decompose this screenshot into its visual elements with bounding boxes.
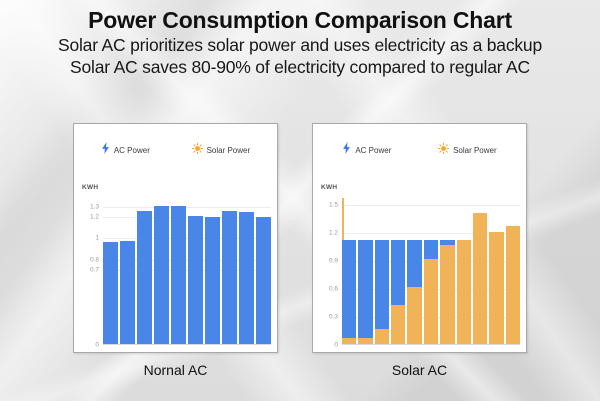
legend-label-ac-power: AC Power xyxy=(114,146,150,155)
bar-column[interactable] xyxy=(171,198,186,344)
bar-column[interactable] xyxy=(375,198,389,344)
sun-icon xyxy=(192,141,203,159)
y-tick-label: 0.8 xyxy=(90,256,99,263)
bar-column[interactable] xyxy=(188,198,203,344)
lightning-bolt-icon xyxy=(101,141,110,159)
bars-solar-ac xyxy=(342,198,520,344)
y-tick-label: 1.3 xyxy=(90,203,99,210)
y-axis-labels-left: 1.31.210.80.70 xyxy=(82,198,102,345)
bar-column[interactable] xyxy=(424,198,438,344)
bar-column[interactable] xyxy=(137,198,152,344)
subtitle-line-2: Solar AC saves 80-90% of electricity com… xyxy=(0,56,600,78)
bar-segment-ac-power xyxy=(205,217,220,344)
y-axis-unit-left: KWH xyxy=(82,184,98,191)
chart-caption-normal-ac: Nornal AC xyxy=(144,362,208,378)
bar-segment-solar-power xyxy=(489,232,503,344)
lightning-bolt-icon xyxy=(342,141,351,159)
bar-segment-ac-power xyxy=(120,241,135,344)
y-tick-label: 1.5 xyxy=(329,202,338,209)
plot-area-solar-ac: 1.51.20.90.60.30 xyxy=(321,198,520,345)
plot-area-normal-ac: 1.31.210.80.70 xyxy=(82,198,271,345)
legend-normal-ac: AC Power xyxy=(74,141,277,159)
bar-segment-ac-power xyxy=(171,206,186,344)
bar-column[interactable] xyxy=(506,198,520,344)
bar-segment-solar-power xyxy=(424,259,438,344)
bar-segment-ac-power xyxy=(154,206,169,344)
bar-column[interactable] xyxy=(342,198,356,344)
page-title: Power Consumption Comparison Chart xyxy=(0,6,600,34)
legend-item-solar-power: Solar Power xyxy=(192,141,251,159)
bar-segment-ac-power xyxy=(137,211,152,344)
bar-segment-ac-power xyxy=(391,240,405,306)
legend-item-ac-power: AC Power xyxy=(342,141,391,159)
chart-block-normal-ac: AC Power xyxy=(73,123,278,378)
legend-item-ac-power: AC Power xyxy=(101,141,150,159)
bar-column[interactable] xyxy=(489,198,503,344)
bar-column[interactable] xyxy=(407,198,421,344)
bar-segment-ac-power xyxy=(342,240,356,339)
legend-item-solar-power: Solar Power xyxy=(438,141,497,159)
y-axis-labels-right: 1.51.20.90.60.30 xyxy=(321,198,341,345)
bar-segment-solar-power xyxy=(473,213,487,344)
bar-column[interactable] xyxy=(205,198,220,344)
bar-segment-ac-power xyxy=(188,216,203,344)
bar-segment-ac-power xyxy=(424,240,438,259)
bar-segment-solar-power xyxy=(407,287,421,344)
y-tick-label: 1.2 xyxy=(90,214,99,221)
bar-column[interactable] xyxy=(391,198,405,344)
y-tick-label: 0 xyxy=(334,342,338,349)
bar-segment-solar-power xyxy=(506,226,520,344)
y-tick-label: 1 xyxy=(95,235,99,242)
bar-segment-ac-power xyxy=(222,211,237,344)
bar-segment-solar-power xyxy=(391,305,405,344)
y-axis-unit-right: KWH xyxy=(321,184,337,191)
charts-row: AC Power xyxy=(0,123,600,378)
chart-card-normal-ac: AC Power xyxy=(73,123,278,353)
y-tick-label: 0.9 xyxy=(329,258,338,265)
bar-column[interactable] xyxy=(358,198,372,344)
bar-segment-ac-power xyxy=(103,242,118,344)
legend-solar-ac: AC Power xyxy=(313,141,526,159)
legend-label-ac-power: AC Power xyxy=(355,146,391,155)
bar-column[interactable] xyxy=(239,198,254,344)
sun-icon xyxy=(438,141,449,159)
bar-segment-ac-power xyxy=(256,217,271,344)
y-tick-label: 0.6 xyxy=(329,286,338,293)
bars-normal-ac xyxy=(103,198,271,344)
bar-segment-ac-power xyxy=(239,212,254,344)
bar-column[interactable] xyxy=(473,198,487,344)
bar-segment-solar-power xyxy=(457,240,471,344)
slide-root: Power Consumption Comparison Chart Solar… xyxy=(0,0,600,401)
bar-column[interactable] xyxy=(440,198,454,344)
subtitle-line-1: Solar AC prioritizes solar power and use… xyxy=(0,34,600,56)
bar-column[interactable] xyxy=(222,198,237,344)
chart-card-solar-ac: AC Power xyxy=(312,123,527,353)
bar-segment-solar-power xyxy=(375,329,389,344)
legend-label-solar-power: Solar Power xyxy=(207,146,251,155)
bar-segment-ac-power xyxy=(375,240,389,330)
bar-segment-solar-power xyxy=(440,245,454,344)
legend-label-solar-power: Solar Power xyxy=(453,146,497,155)
x-axis-baseline-right xyxy=(342,344,520,345)
x-axis-baseline-left xyxy=(103,344,271,345)
bar-column[interactable] xyxy=(154,198,169,344)
bar-column[interactable] xyxy=(120,198,135,344)
y-tick-label: 0.3 xyxy=(329,314,338,321)
bar-segment-ac-power xyxy=(358,240,372,338)
y-tick-label: 0.7 xyxy=(90,267,99,274)
y-tick-label: 0 xyxy=(95,342,99,349)
bar-column[interactable] xyxy=(256,198,271,344)
chart-block-solar-ac: AC Power xyxy=(312,123,527,378)
bar-segment-ac-power xyxy=(407,240,421,287)
bar-column[interactable] xyxy=(103,198,118,344)
chart-caption-solar-ac: Solar AC xyxy=(392,362,447,378)
bar-column[interactable] xyxy=(457,198,471,344)
y-tick-label: 1.2 xyxy=(329,230,338,237)
